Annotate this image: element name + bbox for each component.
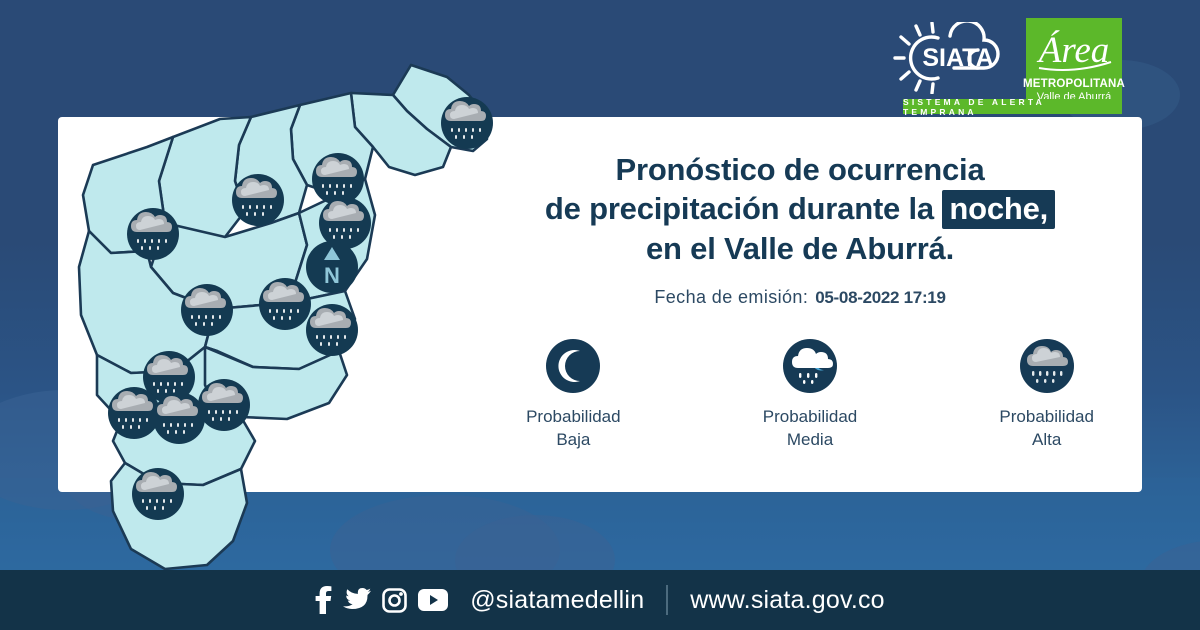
map-marker-la-estrella[interactable] xyxy=(153,392,205,444)
legend-label-media: Probabilidad Media xyxy=(763,406,858,451)
map-marker-sabaneta[interactable] xyxy=(108,387,160,439)
siata-logo: SIATA xyxy=(892,22,1020,94)
map-marker-copacabana[interactable] xyxy=(319,197,371,249)
legend-item-baja: Probabilidad Baja xyxy=(490,339,657,451)
compass-label: N xyxy=(324,263,340,288)
footer-bar: @siatamedellin www.siata.gov.co xyxy=(0,570,1200,630)
legend-baja-line1: Probabilidad xyxy=(526,406,621,428)
legend-label-alta: Probabilidad Alta xyxy=(999,406,1094,451)
area-logo-line1: METROPOLITANA xyxy=(1023,78,1125,91)
legend-media-line1: Probabilidad xyxy=(763,406,858,428)
compass-north-indicator: N xyxy=(306,241,358,293)
forecast-panel: Pronóstico de ocurrencia de precipitació… xyxy=(470,150,1130,451)
legend-alta-line2: Alta xyxy=(999,429,1094,451)
legend-media-line2: Media xyxy=(763,429,858,451)
cloud-moon-rain-icon xyxy=(783,339,837,393)
twitter-icon[interactable] xyxy=(343,588,371,612)
social-handle[interactable]: @siatamedellin xyxy=(470,586,644,615)
area-script-icon: Área xyxy=(1031,22,1117,78)
footer-divider xyxy=(666,585,668,615)
valle-de-aburra-map: N xyxy=(55,55,485,575)
moon-icon xyxy=(546,339,600,393)
title-line-3: en el Valle de Aburrá. xyxy=(470,229,1130,268)
map-svg: N xyxy=(55,55,485,575)
legend-item-media: Probabilidad Media xyxy=(727,339,894,451)
legend-baja-line2: Baja xyxy=(526,429,621,451)
map-marker-envigado[interactable] xyxy=(198,379,250,431)
logo-group: SIATA Área METROPOLITANA Valle de Aburrá… xyxy=(892,18,1122,114)
siata-logo-text: SIATA xyxy=(922,44,993,72)
title-line-2-text: de precipitación durante la xyxy=(545,191,943,226)
legend-item-alta: Probabilidad Alta xyxy=(963,339,1130,451)
legend-label-baja: Probabilidad Baja xyxy=(526,406,621,451)
area-metropolitana-logo: Área METROPOLITANA Valle de Aburrá xyxy=(1026,18,1122,108)
legend-alta-line1: Probabilidad xyxy=(999,406,1094,428)
cloud-heavy-rain-icon xyxy=(1020,339,1074,393)
emission-date: Fecha de emisión: 05-08-2022 17:19 xyxy=(470,287,1130,308)
footer-content: @siatamedellin www.siata.gov.co xyxy=(315,585,885,615)
map-marker-girardota[interactable] xyxy=(312,153,364,205)
map-marker-san-pedro[interactable] xyxy=(232,174,284,226)
alerta-temprana-bar: SISTEMA DE ALERTA TEMPRANA xyxy=(903,99,1122,114)
youtube-icon[interactable] xyxy=(418,589,448,611)
instagram-icon[interactable] xyxy=(382,588,407,613)
probability-legend: Probabilidad Baja Probabilidad Media xyxy=(470,339,1130,451)
website-url[interactable]: www.siata.gov.co xyxy=(690,586,884,615)
facebook-icon[interactable] xyxy=(315,586,332,614)
map-marker-caldas[interactable] xyxy=(132,468,184,520)
map-marker-bello[interactable] xyxy=(259,278,311,330)
emission-date-value: 05-08-2022 17:19 xyxy=(815,288,945,308)
map-marker-barbosa[interactable] xyxy=(441,97,493,149)
page-title: Pronóstico de ocurrencia de precipitació… xyxy=(470,150,1130,268)
map-marker-medellin[interactable] xyxy=(181,284,233,336)
map-marker-medellin-norte[interactable] xyxy=(127,208,179,260)
title-highlight-noche: noche, xyxy=(942,190,1055,229)
map-marker-copacabana-sur[interactable] xyxy=(306,304,358,356)
title-line-2: de precipitación durante la noche, xyxy=(470,189,1130,228)
emission-date-label: Fecha de emisión: xyxy=(654,287,808,308)
title-line-1: Pronóstico de ocurrencia xyxy=(470,150,1130,189)
social-icons xyxy=(315,586,448,614)
